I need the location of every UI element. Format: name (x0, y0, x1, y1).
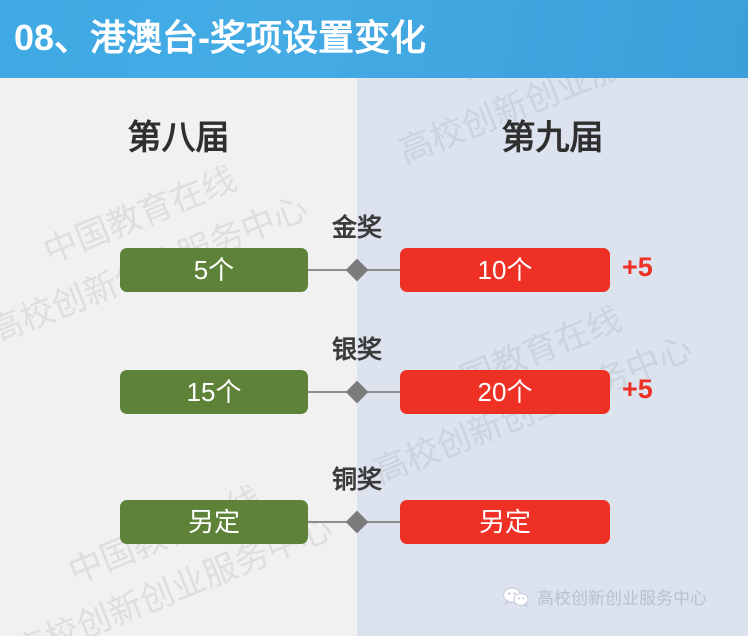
award-label: 银奖 (277, 330, 437, 366)
slide-header: 08、港澳台-奖项设置变化 (0, 0, 748, 78)
comparison-body: 中国教育在线 高校创新创业服务中心 中国教育在线 高校创新创业服务中心 中国教育… (0, 78, 748, 636)
diamond-marker-icon (346, 381, 369, 404)
old-value-pill: 15个 (120, 370, 308, 414)
delta-badge: +5 (622, 252, 653, 283)
diamond-marker-icon (346, 259, 369, 282)
comparison-row: 金奖 5个 10个 +5 (0, 208, 748, 318)
old-value-pill: 另定 (120, 500, 308, 544)
award-label: 金奖 (277, 208, 437, 244)
comparison-row: 银奖 15个 20个 +5 (0, 330, 748, 440)
comparison-row: 铜奖 另定 另定 (0, 460, 748, 570)
award-label: 铜奖 (277, 460, 437, 496)
old-value-pill: 5个 (120, 248, 308, 292)
wechat-icon (503, 587, 529, 607)
slide-canvas: 08、港澳台-奖项设置变化 中国教育在线 高校创新创业服务中心 中国教育在线 高… (0, 0, 748, 636)
footer-brand: 高校创新创业服务中心 (503, 584, 707, 609)
footer-brand-text: 高校创新创业服务中心 (537, 584, 707, 609)
column-title-left: 第八届 (0, 110, 357, 159)
column-title-right: 第九届 (357, 110, 748, 159)
new-value-pill: 另定 (400, 500, 610, 544)
diamond-marker-icon (346, 511, 369, 534)
new-value-pill: 20个 (400, 370, 610, 414)
delta-badge: +5 (622, 374, 653, 405)
new-value-pill: 10个 (400, 248, 610, 292)
page-title: 08、港澳台-奖项设置变化 (14, 10, 426, 66)
